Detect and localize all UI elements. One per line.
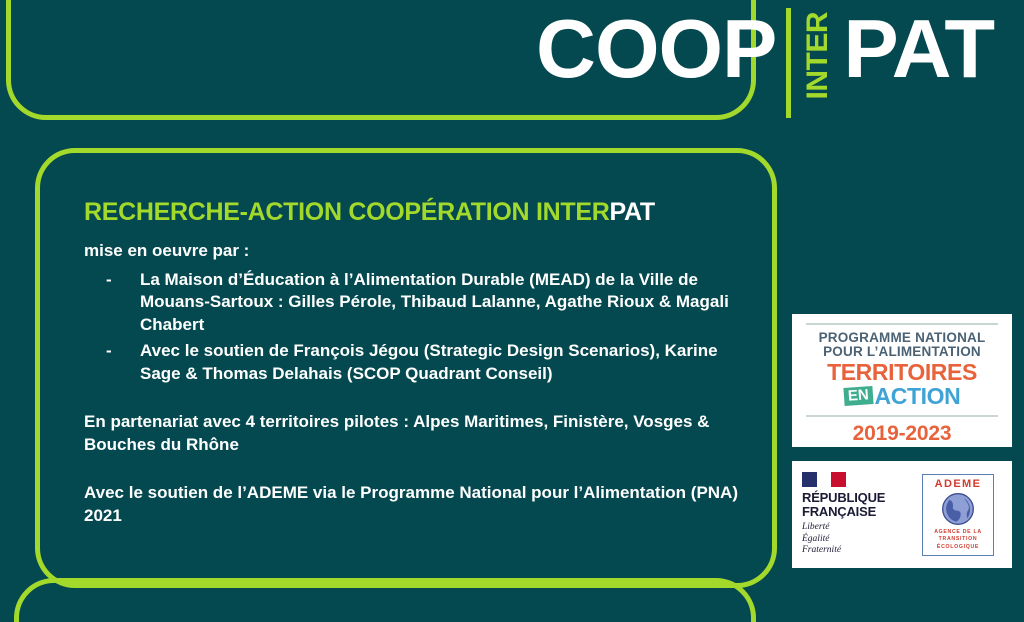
- pna-rule-bottom: [806, 415, 998, 417]
- page-title: RECHERCHE-ACTION COOPÉRATION INTERPAT: [84, 198, 744, 227]
- bullet-dash: -: [106, 340, 112, 362]
- ademe-logo: ADEME AGENCE DE LA TRANSITION ÉCOLOGIQUE: [922, 474, 994, 556]
- lead-text: mise en oeuvre par :: [84, 241, 744, 261]
- bullet-dash: -: [106, 269, 112, 291]
- rf-motto: Liberté Égalité Fraternité: [802, 522, 914, 557]
- brand-divider: [786, 8, 791, 118]
- pna-action-row: EN ACTION: [802, 385, 1002, 408]
- rf-name-line1: RÉPUBLIQUE: [802, 491, 914, 505]
- pna-years-text: 2019-2023: [802, 422, 1002, 446]
- ademe-title: ADEME: [935, 478, 982, 490]
- main-content: RECHERCHE-ACTION COOPÉRATION INTERPAT mi…: [84, 198, 744, 527]
- decorative-frame-bottom: [14, 578, 756, 622]
- pna-headline-line1: PROGRAMME NATIONAL: [802, 331, 1002, 345]
- list-item-text: Avec le soutien de François Jégou (Strat…: [140, 341, 718, 382]
- logo-column: PROGRAMME NATIONAL POUR L’ALIMENTATION T…: [792, 314, 1012, 568]
- pna-en-badge: EN: [843, 386, 873, 406]
- rf-name-line2: FRANÇAISE: [802, 505, 914, 519]
- brand-masthead: COOP INTER PAT: [536, 8, 994, 118]
- pna-logo: PROGRAMME NATIONAL POUR L’ALIMENTATION T…: [792, 314, 1012, 447]
- pna-headline-line2: POUR L’ALIMENTATION: [802, 345, 1002, 359]
- ademe-subtitle: AGENCE DE LA TRANSITION ÉCOLOGIQUE: [934, 529, 982, 550]
- pna-action-text: ACTION: [875, 385, 961, 408]
- rf-motto-line1: Liberté: [802, 522, 914, 534]
- rf-name: RÉPUBLIQUE FRANÇAISE: [802, 491, 914, 519]
- brand-pat-text: PAT: [843, 8, 994, 89]
- page-title-suffix: PAT: [609, 198, 654, 226]
- pna-rule-top: [806, 323, 998, 325]
- ademe-subtitle-line3: ÉCOLOGIQUE: [934, 544, 982, 551]
- list-item: - Avec le soutien de François Jégou (Str…: [88, 340, 744, 385]
- pna-territoires-text: TERRITOIRES: [802, 361, 1002, 384]
- government-logos: RÉPUBLIQUE FRANÇAISE Liberté Égalité Fra…: [792, 461, 1012, 568]
- paragraph-support: Avec le soutien de l’ADEME via le Progra…: [84, 482, 744, 527]
- brand-coop-text: COOP: [536, 8, 776, 89]
- pna-headline: PROGRAMME NATIONAL POUR L’ALIMENTATION: [802, 331, 1002, 360]
- ademe-subtitle-line2: TRANSITION: [934, 536, 982, 543]
- rf-motto-line2: Égalité: [802, 534, 914, 546]
- paragraph-partners: En partenariat avec 4 territoires pilote…: [84, 411, 744, 456]
- globe-icon: [941, 492, 975, 526]
- page-title-main: RECHERCHE-ACTION COOPÉRATION INTER: [84, 198, 609, 226]
- brand-inter-text: INTER: [803, 12, 833, 100]
- french-flag-icon: [802, 472, 846, 487]
- credit-list: - La Maison d’Éducation à l’Alimentation…: [88, 269, 744, 385]
- republique-francaise-logo: RÉPUBLIQUE FRANÇAISE Liberté Égalité Fra…: [802, 472, 914, 557]
- list-item: - La Maison d’Éducation à l’Alimentation…: [88, 269, 744, 336]
- ademe-subtitle-line1: AGENCE DE LA: [934, 529, 982, 536]
- list-item-text: La Maison d’Éducation à l’Alimentation D…: [140, 270, 729, 334]
- rf-motto-line3: Fraternité: [802, 545, 914, 557]
